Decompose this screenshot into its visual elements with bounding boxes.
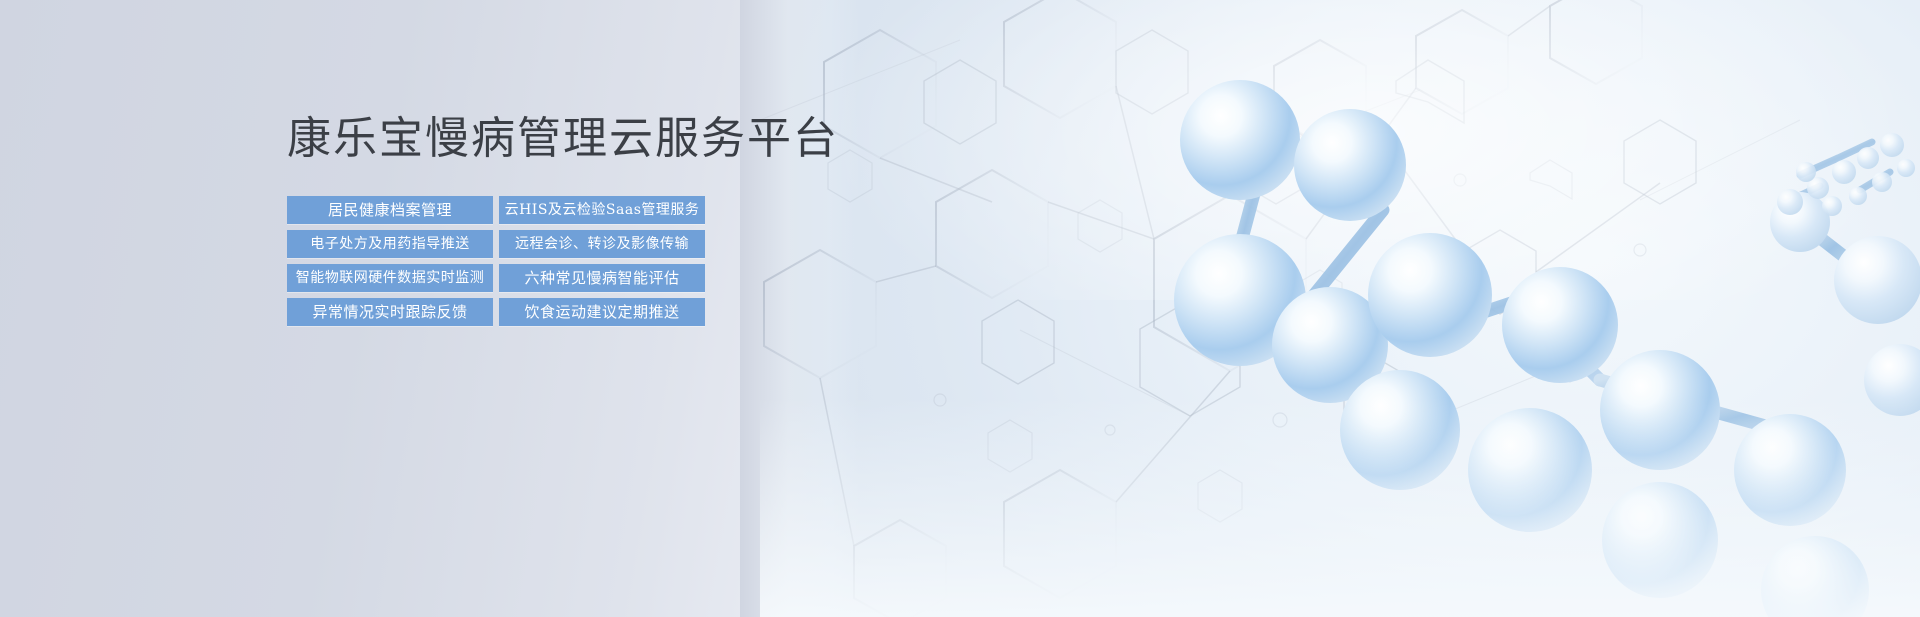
feature-item-resident-health-records[interactable]: 居民健康档案管理 [287,196,493,224]
hero-content: 康乐宝慢病管理云服务平台 居民健康档案管理 云HIS及云检验Saas管理服务 电… [287,110,747,326]
feature-item-remote-consultation[interactable]: 远程会诊、转诊及影像传输 [499,230,705,258]
background-right-panel [760,0,1920,617]
feature-item-iot-monitoring[interactable]: 智能物联网硬件数据实时监测 [287,264,493,292]
feature-grid: 居民健康档案管理 云HIS及云检验Saas管理服务 电子处方及用药指导推送 远程… [287,196,747,326]
feature-item-chronic-disease-assessment[interactable]: 六种常见慢病智能评估 [499,264,705,292]
page-title: 康乐宝慢病管理云服务平台 [287,110,747,168]
feature-item-e-prescription[interactable]: 电子处方及用药指导推送 [287,230,493,258]
feature-item-anomaly-tracking[interactable]: 异常情况实时跟踪反馈 [287,298,493,326]
feature-item-cloud-his-saas[interactable]: 云HIS及云检验Saas管理服务 [499,196,705,224]
feature-item-diet-exercise-advice[interactable]: 饮食运动建议定期推送 [499,298,705,326]
hero-banner: 康乐宝慢病管理云服务平台 居民健康档案管理 云HIS及云检验Saas管理服务 电… [0,0,1920,617]
background-seam [740,0,860,617]
